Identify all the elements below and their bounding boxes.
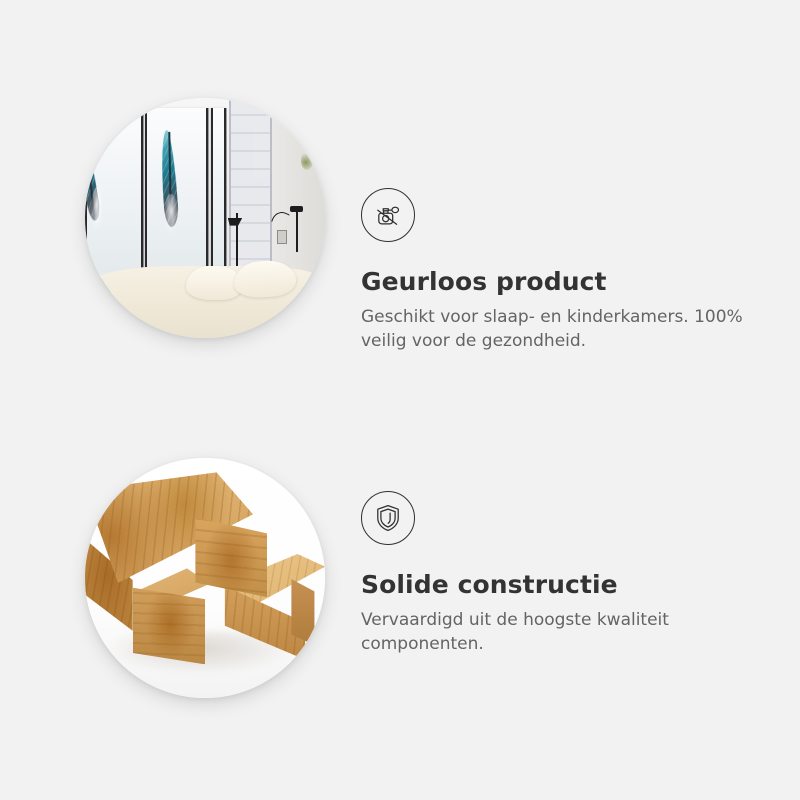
feature-title: Geurloos product (361, 268, 761, 296)
feather-wisp (164, 194, 178, 235)
product-feature-banner: Geurloos product Geschikt voor slaap- en… (0, 0, 800, 800)
feature-image-feather-canvas-art-bedroom (85, 98, 325, 338)
canvas-panel-middle (145, 108, 207, 281)
feather-wisp (91, 187, 104, 232)
feature-text-column: Solide constructie Vervaardigd uit de ho… (361, 491, 761, 656)
feature-block-geurloos-product: Geurloos product Geschikt voor slaap- en… (0, 60, 800, 380)
feature-title: Solide constructie (361, 571, 761, 599)
bedroom-plant (301, 151, 313, 170)
no-fragrance-icon (361, 188, 415, 242)
bedroom-lamp-pole-right (296, 208, 298, 251)
feature-text-column: Geurloos product Geschikt voor slaap- en… (361, 188, 761, 353)
wooden-beams-scene (85, 458, 325, 698)
bedroom-lamp-pole-left (236, 213, 238, 266)
feature-image-wooden-beams (85, 458, 325, 698)
canvas-panel-left (85, 108, 143, 281)
shield-icon (361, 491, 415, 545)
beam-lower-end-face (133, 583, 205, 665)
feature-description: Geschikt voor slaap- en kinderkamers. 10… (361, 305, 746, 353)
feature-image-clip (85, 98, 325, 338)
canvas-panel-right (211, 108, 227, 281)
feature-image-clip (85, 458, 325, 698)
feature-block-solide-constructie: Solide constructie Vervaardigd uit de ho… (0, 420, 800, 740)
feature-description: Vervaardigd uit de hoogste kwaliteit com… (361, 608, 746, 656)
bedroom-scene (85, 98, 325, 338)
